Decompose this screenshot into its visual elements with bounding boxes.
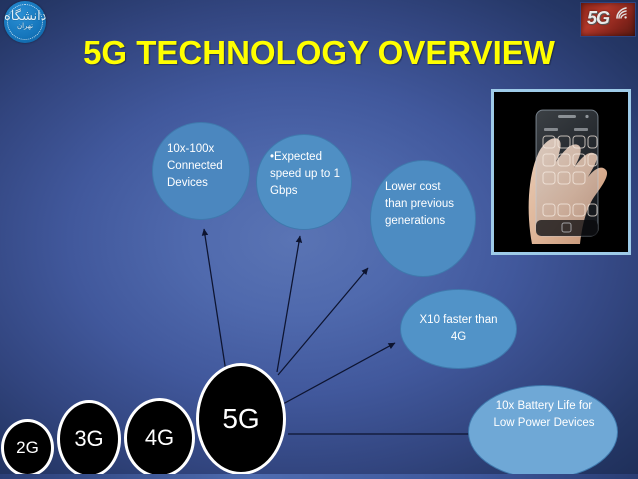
generation-circle-3g[interactable]: 3G <box>57 400 121 478</box>
slide-canvas: دانشگاه تهران 5G 5G TECHNOLOGY OVERVIEW <box>0 0 638 479</box>
arrow-to-cost <box>278 268 368 375</box>
generation-circle-4g[interactable]: 4G <box>124 398 195 478</box>
signal-waves-icon <box>614 5 630 21</box>
bubble-x10-faster-text: X10 faster than 4G <box>411 312 506 346</box>
generation-circle-2g[interactable]: 2G <box>1 419 54 477</box>
bubble-connected-devices-text: 10x-100x Connected Devices <box>167 141 230 192</box>
page-title: 5G TECHNOLOGY OVERVIEW <box>0 34 638 72</box>
arrow-to-speed <box>277 236 300 372</box>
tech-logo-label: 5G <box>587 8 609 29</box>
tech-logo-badge: 5G <box>580 2 636 37</box>
bubble-expected-speed-text: •Expected speed up to 1 Gbps <box>270 149 340 217</box>
logo-script: دانشگاه تهران <box>4 11 46 30</box>
bottom-accent-strip <box>0 474 638 479</box>
bubble-battery-life[interactable]: 10x Battery Life for Low Power Devices <box>468 385 618 479</box>
bubble-lower-cost-text: Lower cost than previous generations <box>385 179 463 230</box>
arrow-to-devices <box>204 229 226 372</box>
phone-photo <box>491 89 631 255</box>
generation-circle-5g[interactable]: 5G <box>196 363 286 475</box>
bubble-x10-faster[interactable]: X10 faster than 4G <box>400 289 517 369</box>
bubble-expected-speed[interactable]: •Expected speed up to 1 Gbps <box>256 134 352 230</box>
phone-photo-illustration <box>494 92 628 252</box>
arrow-to-faster <box>283 343 395 404</box>
bubble-connected-devices[interactable]: 10x-100x Connected Devices <box>152 122 250 220</box>
bubble-battery-life-text: 10x Battery Life for Low Power Devices <box>485 398 603 432</box>
bubble-lower-cost[interactable]: Lower cost than previous generations <box>370 160 476 277</box>
